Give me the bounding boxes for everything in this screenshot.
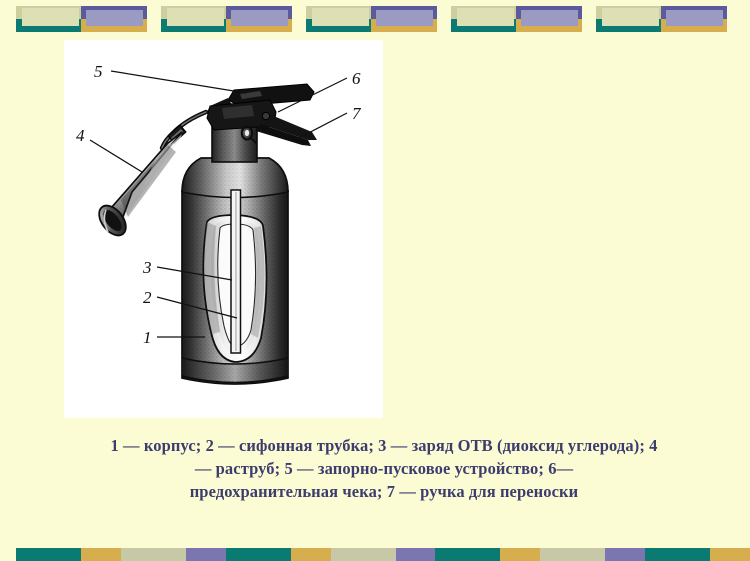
decor-block bbox=[16, 6, 147, 32]
decor-inner-frame-left bbox=[457, 8, 514, 26]
decor-block bbox=[306, 6, 437, 32]
decorative-strip-top bbox=[0, 0, 750, 36]
decor-block bbox=[596, 6, 727, 32]
figure-caption: 1 — корпус; 2 — сифонная трубка; 3 — зар… bbox=[84, 434, 684, 503]
decor-block bbox=[121, 548, 212, 561]
caption-line-2: — раструб; 5 — запорно-пусковое устройст… bbox=[84, 457, 684, 480]
decor-half-left bbox=[16, 548, 81, 561]
decor-half-left bbox=[540, 548, 605, 561]
fire-extinguisher-diagram: 5 6 7 4 3 2 1 bbox=[64, 40, 383, 418]
decor-half-left bbox=[331, 548, 396, 561]
callout-6: 6 bbox=[352, 69, 361, 88]
decor-block bbox=[435, 548, 526, 561]
callout-2: 2 bbox=[143, 288, 152, 307]
decor-block bbox=[161, 6, 292, 32]
decor-inner-frame-left bbox=[22, 8, 79, 26]
decor-inner-frame-left bbox=[312, 8, 369, 26]
decor-block bbox=[451, 6, 582, 32]
caption-line-3: предохранительная чека; 7 — ручка для пе… bbox=[84, 480, 684, 503]
decor-inner-frame-right bbox=[231, 10, 288, 26]
decor-block bbox=[16, 548, 107, 561]
decor-inner-frame-right bbox=[666, 10, 723, 26]
decor-inner-frame-right bbox=[521, 10, 578, 26]
decor-block bbox=[331, 548, 422, 561]
caption-line-1: 1 — корпус; 2 — сифонная трубка; 3 — зар… bbox=[84, 434, 684, 457]
figure-panel: 5 6 7 4 3 2 1 bbox=[64, 40, 383, 418]
decor-half-left bbox=[645, 548, 710, 561]
decor-half-left bbox=[226, 548, 291, 561]
decor-block bbox=[540, 548, 631, 561]
decor-half-right bbox=[710, 548, 750, 561]
callout-1: 1 bbox=[143, 328, 152, 347]
callout-5: 5 bbox=[94, 62, 103, 81]
callout-4: 4 bbox=[76, 126, 85, 145]
decor-half-left bbox=[435, 548, 500, 561]
decorative-strip-bottom bbox=[0, 548, 750, 561]
decor-inner-frame-right bbox=[376, 10, 433, 26]
decor-block bbox=[226, 548, 317, 561]
decor-inner-frame-right bbox=[86, 10, 143, 26]
decor-half-left bbox=[121, 548, 186, 561]
decor-inner-frame-left bbox=[602, 8, 659, 26]
decor-block bbox=[645, 548, 736, 561]
decor-inner-frame-left bbox=[167, 8, 224, 26]
callout-3: 3 bbox=[142, 258, 152, 277]
